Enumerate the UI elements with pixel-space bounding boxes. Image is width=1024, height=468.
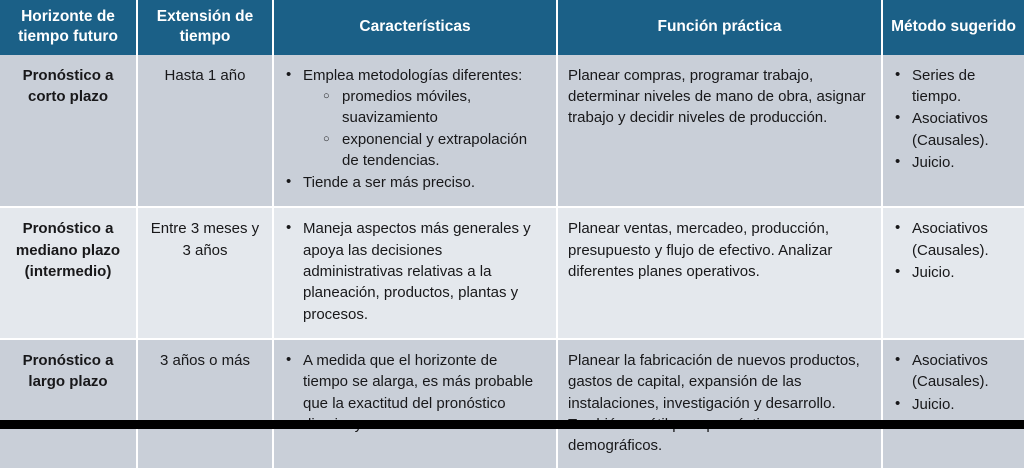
- funcion-text: Planear la fabricación de nuevos product…: [568, 350, 871, 456]
- caracteristicas-list: Maneja aspectos más generales y apoya la…: [284, 218, 546, 324]
- cell-metodo: Asociativos (Causales). Juicio.: [882, 339, 1024, 468]
- table-row: Pronóstico a mediano plazo (intermedio) …: [0, 207, 1024, 338]
- cell-extension: Entre 3 meses y 3 años: [137, 207, 273, 338]
- list-item: Asociativos (Causales).: [893, 350, 1014, 393]
- table-row: Pronóstico a largo plazo 3 años o más A …: [0, 339, 1024, 468]
- cell-metodo: Asociativos (Causales). Juicio.: [882, 207, 1024, 338]
- cell-horizonte: Pronóstico a mediano plazo (intermedio): [0, 207, 137, 338]
- metodo-list: Asociativos (Causales). Juicio.: [893, 218, 1014, 283]
- cell-extension: 3 años o más: [137, 339, 273, 468]
- list-item: Series de tiempo.: [893, 65, 1014, 108]
- table-header-row: Horizonte de tiempo futuro Extensión de …: [0, 0, 1024, 55]
- cell-caracteristicas: Emplea metodologías diferentes: promedio…: [273, 55, 557, 208]
- column-header-metodo: Método sugerido: [882, 0, 1024, 55]
- cell-caracteristicas: A medida que el horizonte de tiempo se a…: [273, 339, 557, 468]
- column-header-horizonte: Horizonte de tiempo futuro: [0, 0, 137, 55]
- cell-caracteristicas: Maneja aspectos más generales y apoya la…: [273, 207, 557, 338]
- cell-horizonte: Pronóstico a corto plazo: [0, 55, 137, 208]
- column-header-extension: Extensión de tiempo: [137, 0, 273, 55]
- cell-metodo: Series de tiempo. Asociativos (Causales)…: [882, 55, 1024, 208]
- list-item: Maneja aspectos más generales y apoya la…: [284, 218, 546, 324]
- column-header-caracteristicas: Características: [273, 0, 557, 55]
- metodo-list: Asociativos (Causales). Juicio.: [893, 350, 1014, 415]
- cell-horizonte: Pronóstico a largo plazo: [0, 339, 137, 468]
- list-item: Tiende a ser más preciso.: [284, 172, 546, 193]
- list-item: Juicio.: [893, 152, 1014, 173]
- table-header: Horizonte de tiempo futuro Extensión de …: [0, 0, 1024, 55]
- column-header-funcion: Función práctica: [557, 0, 882, 55]
- forecast-horizon-table-container: Horizonte de tiempo futuro Extensión de …: [0, 0, 1024, 429]
- table-row: Pronóstico a corto plazo Hasta 1 año Emp…: [0, 55, 1024, 208]
- table-body: Pronóstico a corto plazo Hasta 1 año Emp…: [0, 55, 1024, 468]
- list-item: Asociativos (Causales).: [893, 218, 1014, 261]
- cell-extension: Hasta 1 año: [137, 55, 273, 208]
- bullet-text: Emplea metodologías diferentes:: [303, 67, 522, 84]
- list-item: Asociativos (Causales).: [893, 108, 1014, 151]
- list-item: Juicio.: [893, 394, 1014, 415]
- caracteristicas-sublist: promedios móviles, suavizamiento exponen…: [303, 86, 546, 171]
- sub-list-item: promedios móviles, suavizamiento: [323, 86, 546, 129]
- metodo-list: Series de tiempo. Asociativos (Causales)…: [893, 65, 1014, 173]
- cell-funcion: Planear ventas, mercadeo, producción, pr…: [557, 207, 882, 338]
- forecast-horizon-table: Horizonte de tiempo futuro Extensión de …: [0, 0, 1024, 468]
- list-item: Emplea metodologías diferentes: promedio…: [284, 65, 546, 171]
- bottom-black-band: [0, 420, 1024, 429]
- cell-funcion: Planear la fabricación de nuevos product…: [557, 339, 882, 468]
- caracteristicas-list: Emplea metodologías diferentes: promedio…: [284, 65, 546, 194]
- funcion-text: Planear compras, programar trabajo, dete…: [568, 65, 871, 129]
- cell-funcion: Planear compras, programar trabajo, dete…: [557, 55, 882, 208]
- funcion-text: Planear ventas, mercadeo, producción, pr…: [568, 218, 871, 282]
- list-item: Juicio.: [893, 262, 1014, 283]
- sub-list-item: exponencial y extrapolación de tendencia…: [323, 129, 546, 172]
